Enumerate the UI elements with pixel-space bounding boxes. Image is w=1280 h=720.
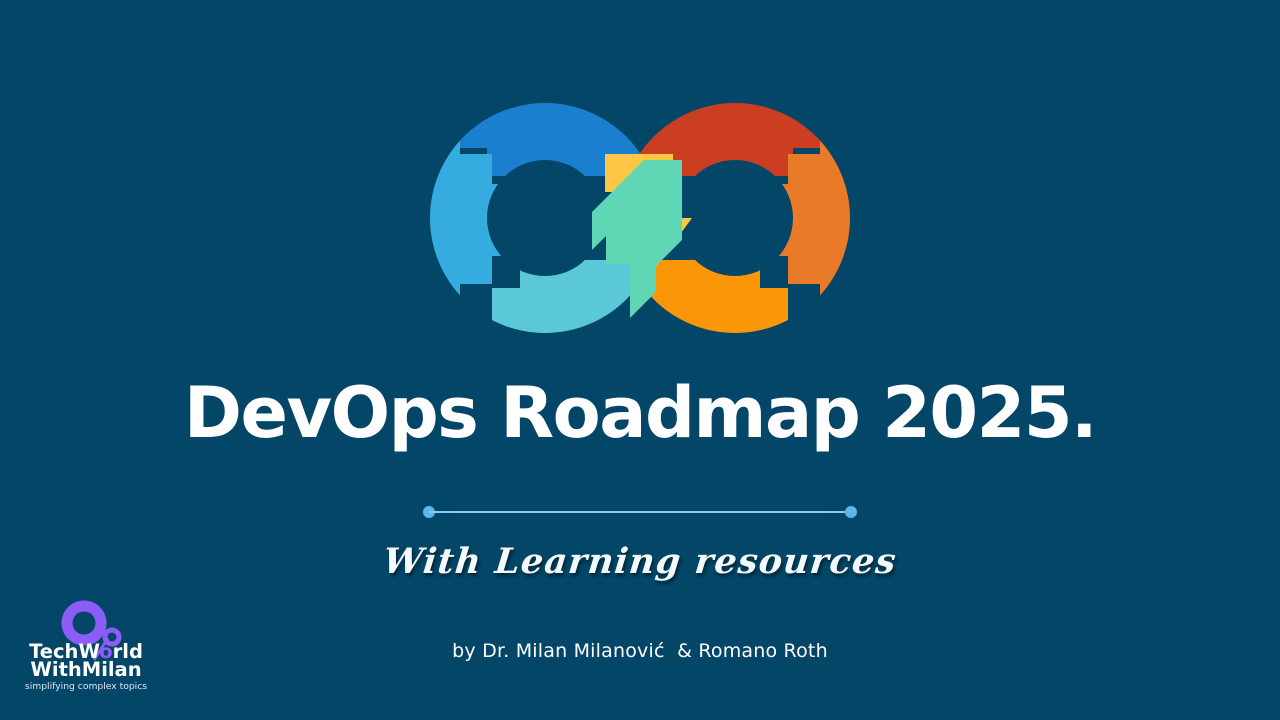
left-inner-hole [487,160,603,276]
brand-line2: WithMilan [30,658,141,681]
divider-dot-right [845,506,857,518]
techworldwithmilan-brand-logo: TechWorld WithMilan simplifying complex … [22,598,150,696]
slide-canvas: DevOps Roadmap 2025. With Learning resou… [0,0,1280,720]
divider [423,506,857,518]
divider-line [429,511,851,513]
page-title: DevOps Roadmap 2025. [0,378,1280,448]
subtitle: With Learning resources [0,543,1280,582]
brand-ring-large [67,606,101,640]
right-inner-hole [677,160,793,276]
byline-authors: by Dr. Milan Milanović & Romano Roth [0,640,1280,662]
brand-tagline: simplifying complex topics [25,681,147,692]
devops-infinity-loop-logo [430,96,850,340]
